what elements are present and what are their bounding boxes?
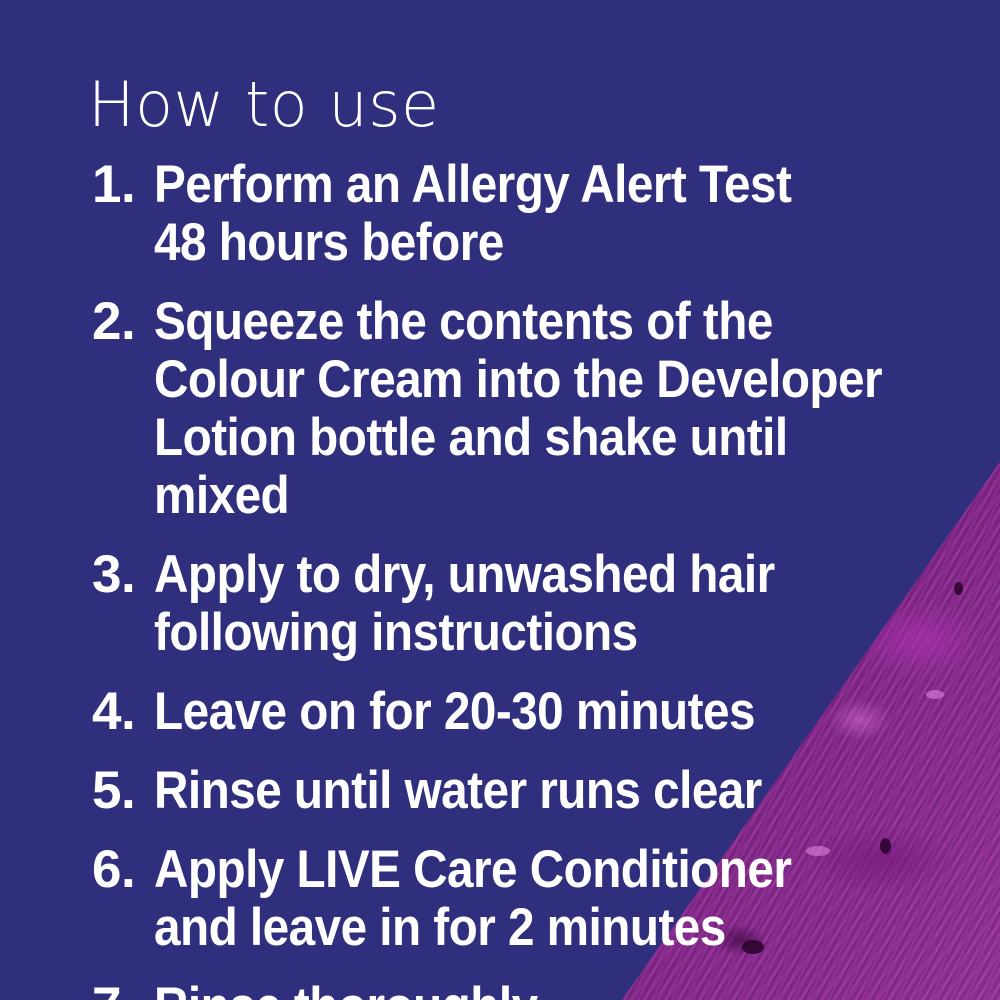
list-item: 6. Apply LIVE Care Conditioner and leave… bbox=[92, 841, 992, 957]
step-number: 2. bbox=[92, 293, 154, 351]
list-item: 4. Leave on for 20-30 minutes bbox=[92, 683, 992, 741]
step-text: Squeeze the contents of the Colour Cream… bbox=[154, 293, 908, 525]
step-text: Apply to dry, unwashed hair following in… bbox=[154, 546, 908, 662]
step-text: Rinse thoroughly bbox=[154, 978, 908, 1000]
step-number: 1. bbox=[92, 156, 154, 214]
step-text: Perform an Allergy Alert Test 48 hours b… bbox=[154, 156, 908, 272]
list-item: 3. Apply to dry, unwashed hair following… bbox=[92, 546, 992, 662]
list-item: 2. Squeeze the contents of the Colour Cr… bbox=[92, 293, 992, 525]
step-number: 4. bbox=[92, 683, 154, 741]
step-text: Leave on for 20-30 minutes bbox=[154, 683, 908, 741]
list-item: 7. Rinse thoroughly bbox=[92, 978, 992, 1000]
step-text: Apply LIVE Care Conditioner and leave in… bbox=[154, 841, 908, 957]
list-item: 5. Rinse until water runs clear bbox=[92, 762, 992, 820]
list-item: 1. Perform an Allergy Alert Test 48 hour… bbox=[92, 156, 992, 272]
instruction-steps-list: 1. Perform an Allergy Alert Test 48 hour… bbox=[52, 156, 992, 1000]
step-number: 6. bbox=[92, 841, 154, 899]
step-text: Rinse until water runs clear bbox=[154, 762, 908, 820]
step-number: 7. bbox=[92, 978, 154, 1000]
step-number: 3. bbox=[92, 546, 154, 604]
page-title: How to use bbox=[88, 70, 440, 140]
step-number: 5. bbox=[92, 762, 154, 820]
how-to-use-poster: How to use 1. Perform an Allergy Alert T… bbox=[0, 0, 1000, 1000]
